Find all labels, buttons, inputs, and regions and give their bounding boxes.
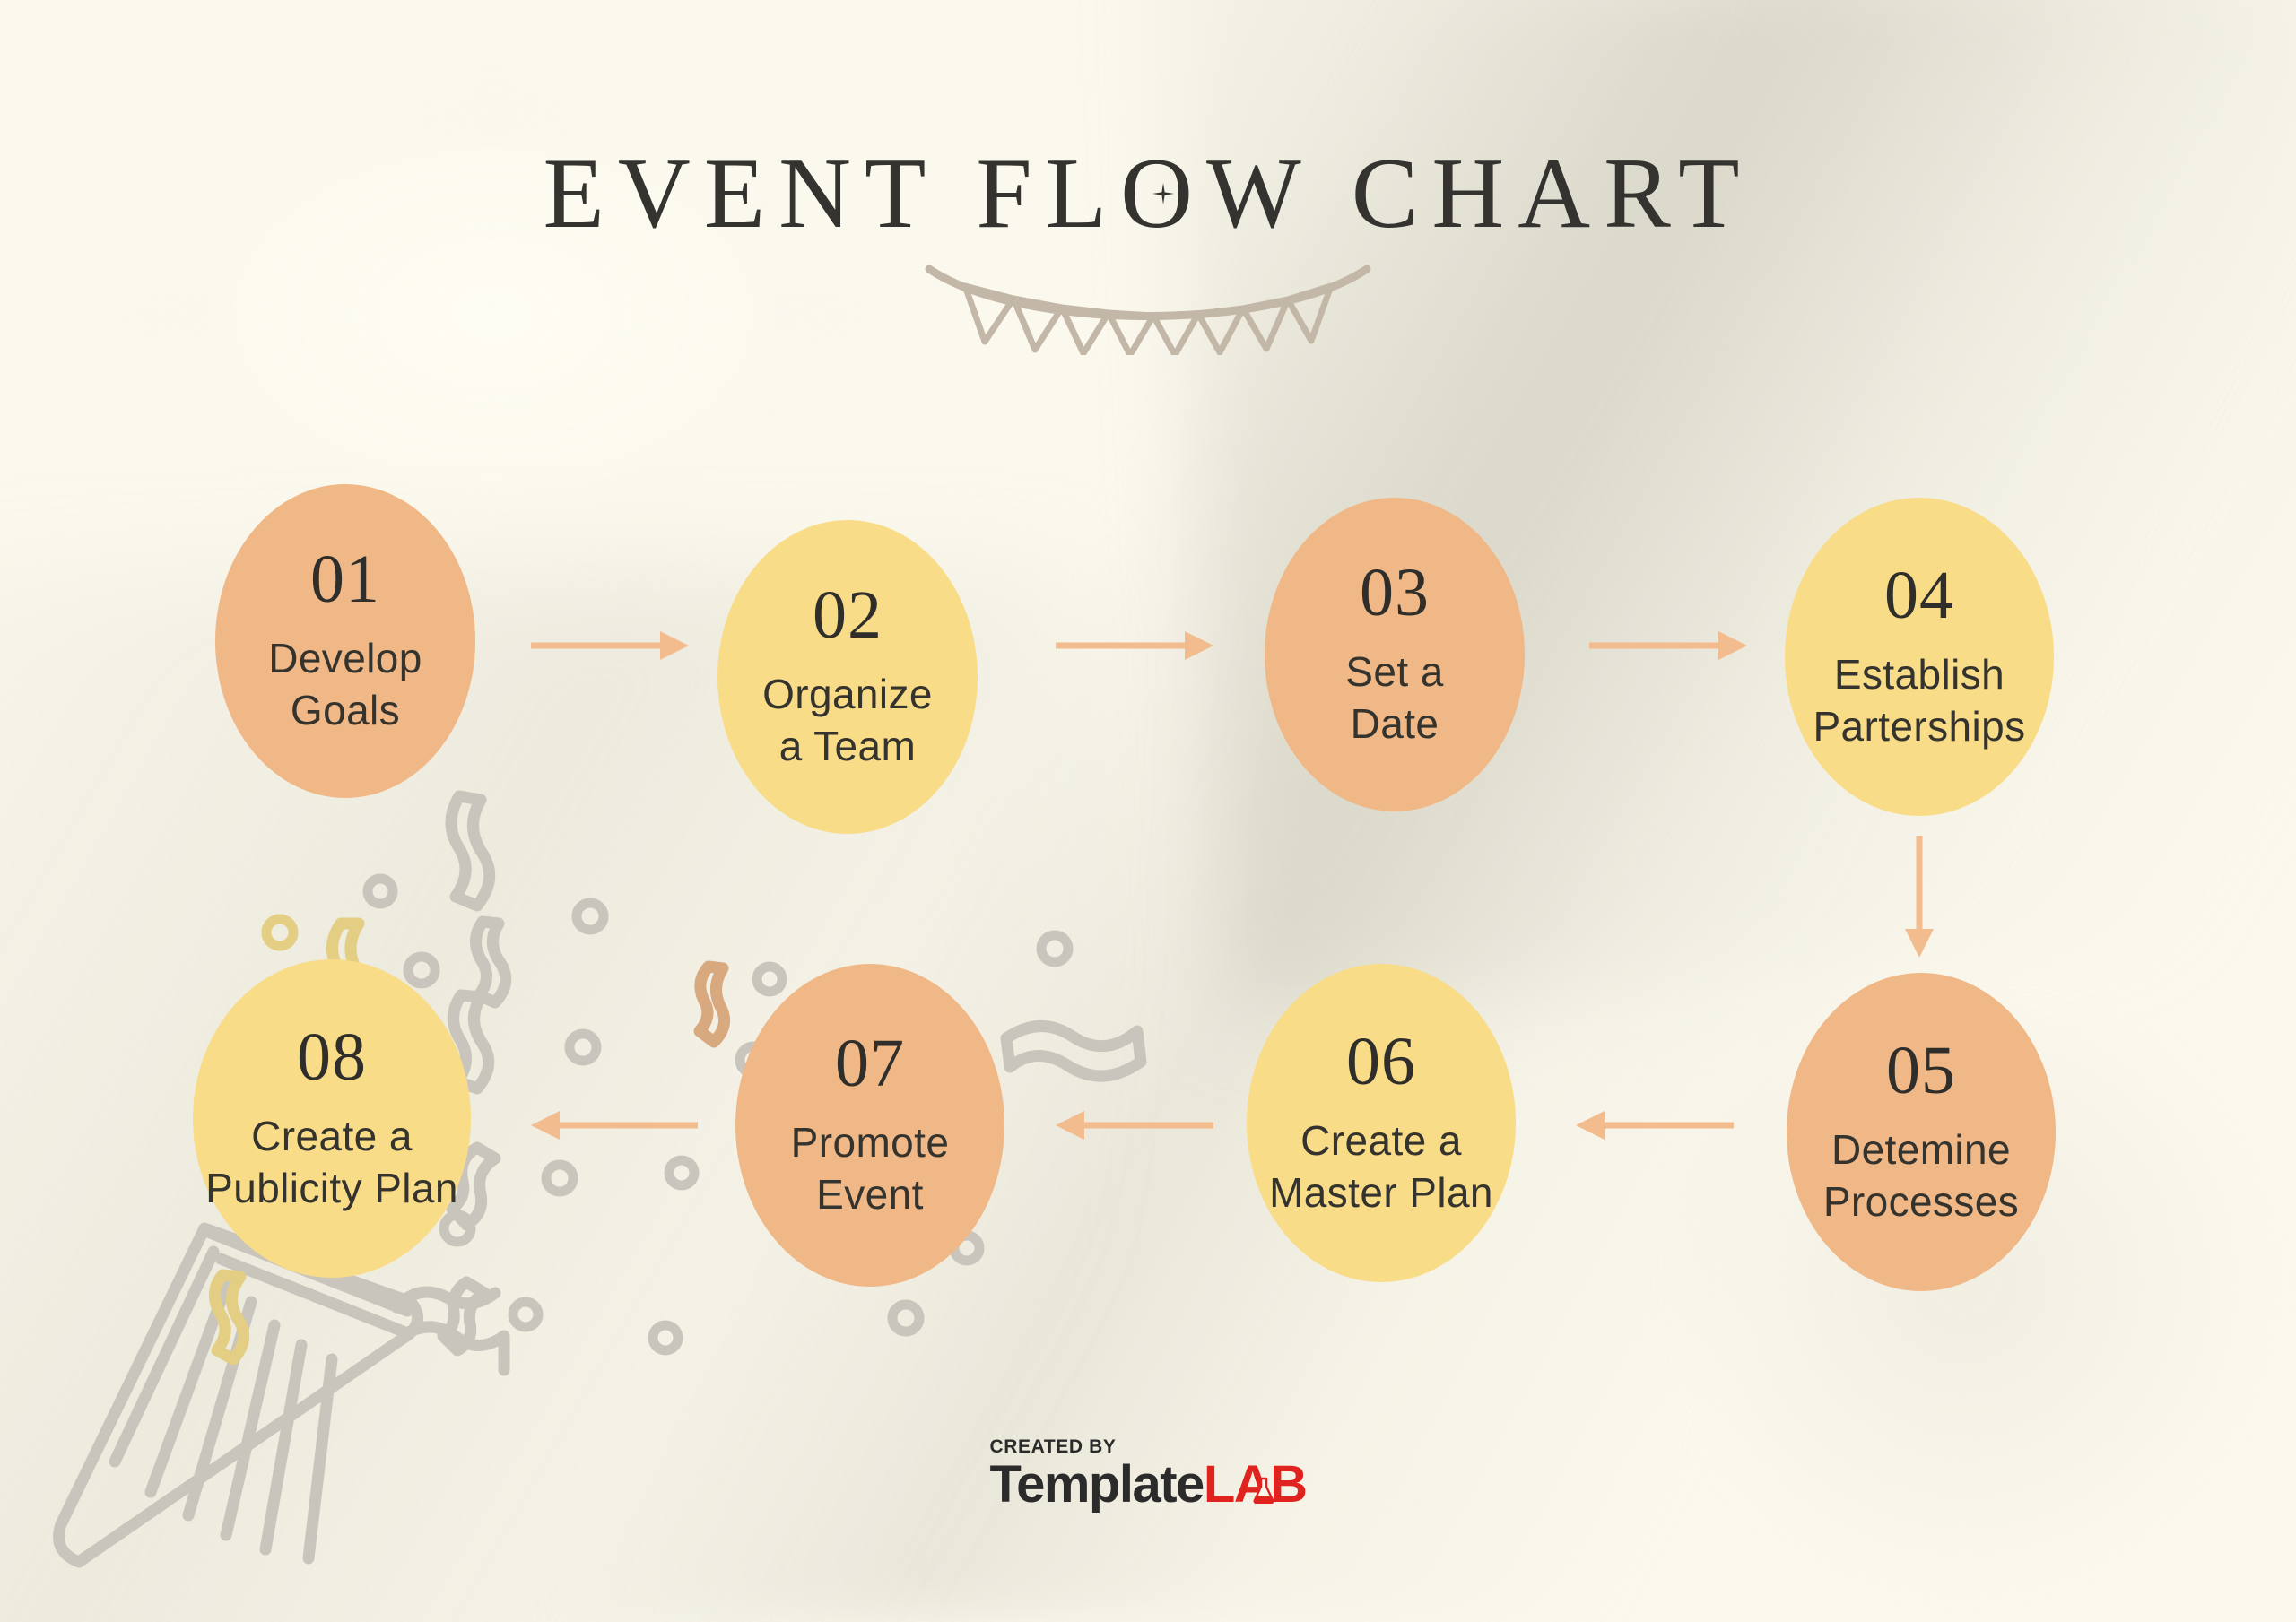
flow-arrow-06-to-07 xyxy=(1054,1107,1215,1143)
page-title: EVENT FLO W CHART xyxy=(543,143,1752,244)
flow-node-03[interactable]: 03 Set a Date xyxy=(1265,498,1525,811)
flow-node-02-number: 02 xyxy=(813,581,883,649)
page-title-o-with-sparkle: O xyxy=(1120,143,1206,244)
flow-node-01-label: Develop Goals xyxy=(263,633,428,737)
flow-arrow-02-to-03 xyxy=(1054,628,1215,664)
flow-node-08-number: 08 xyxy=(297,1023,367,1091)
flow-node-01[interactable]: 01 Develop Goals xyxy=(215,484,475,798)
flow-node-04-label: Establish Parterships xyxy=(1807,649,2031,753)
flow-arrow-05-to-06 xyxy=(1574,1107,1735,1143)
flow-node-04-number: 04 xyxy=(1884,561,1954,629)
flow-node-03-number: 03 xyxy=(1360,559,1430,627)
flow-node-05[interactable]: 05 Detemine Processes xyxy=(1787,973,2056,1291)
flow-arrow-03-to-04 xyxy=(1587,628,1749,664)
logo-lab-word: LAB xyxy=(1204,1459,1307,1511)
templatelab-logo[interactable]: CREATED BY Template LAB xyxy=(0,1437,2296,1511)
flow-node-06-label: Create a Master Plan xyxy=(1264,1115,1499,1219)
flow-arrow-07-to-08 xyxy=(529,1107,700,1143)
flow-node-05-number: 05 xyxy=(1886,1037,1956,1105)
flow-node-02-label: Organize a Team xyxy=(757,669,938,773)
page-title-part-1: EVENT FL xyxy=(543,138,1120,249)
logo-template-word: Template xyxy=(989,1459,1203,1511)
flow-node-08-label: Create a Publicity Plan xyxy=(200,1111,464,1215)
flow-node-07-label: Promote Event xyxy=(786,1117,955,1221)
header: EVENT FLO W CHART xyxy=(0,0,2296,360)
logo-created-by-text: CREATED BY xyxy=(989,1437,1306,1456)
flow-arrow-04-to-05 xyxy=(1901,834,1937,959)
flow-node-06-number: 06 xyxy=(1346,1028,1416,1096)
flow-node-02[interactable]: 02 Organize a Team xyxy=(717,520,978,834)
flow-arrow-01-to-02 xyxy=(529,628,691,664)
flow-node-01-number: 01 xyxy=(310,545,380,613)
flask-icon xyxy=(1252,1477,1275,1504)
flow-node-07[interactable]: 07 Promote Event xyxy=(735,964,1004,1287)
flow-node-04[interactable]: 04 Establish Parterships xyxy=(1785,498,2054,816)
event-flow-chart-poster: EVENT FLO W CHART xyxy=(0,0,2296,1622)
flow-node-03-label: Set a Date xyxy=(1340,646,1448,750)
flow-node-06[interactable]: 06 Create a Master Plan xyxy=(1247,964,1516,1282)
page-title-part-3: W CHART xyxy=(1206,138,1753,249)
flow-node-05-label: Detemine Processes xyxy=(1818,1124,2024,1228)
bunting-banner-icon xyxy=(0,256,2296,360)
page-title-part-2: O xyxy=(1120,138,1206,249)
flow-node-08[interactable]: 08 Create a Publicity Plan xyxy=(193,959,471,1278)
flow-node-07-number: 07 xyxy=(835,1029,905,1097)
